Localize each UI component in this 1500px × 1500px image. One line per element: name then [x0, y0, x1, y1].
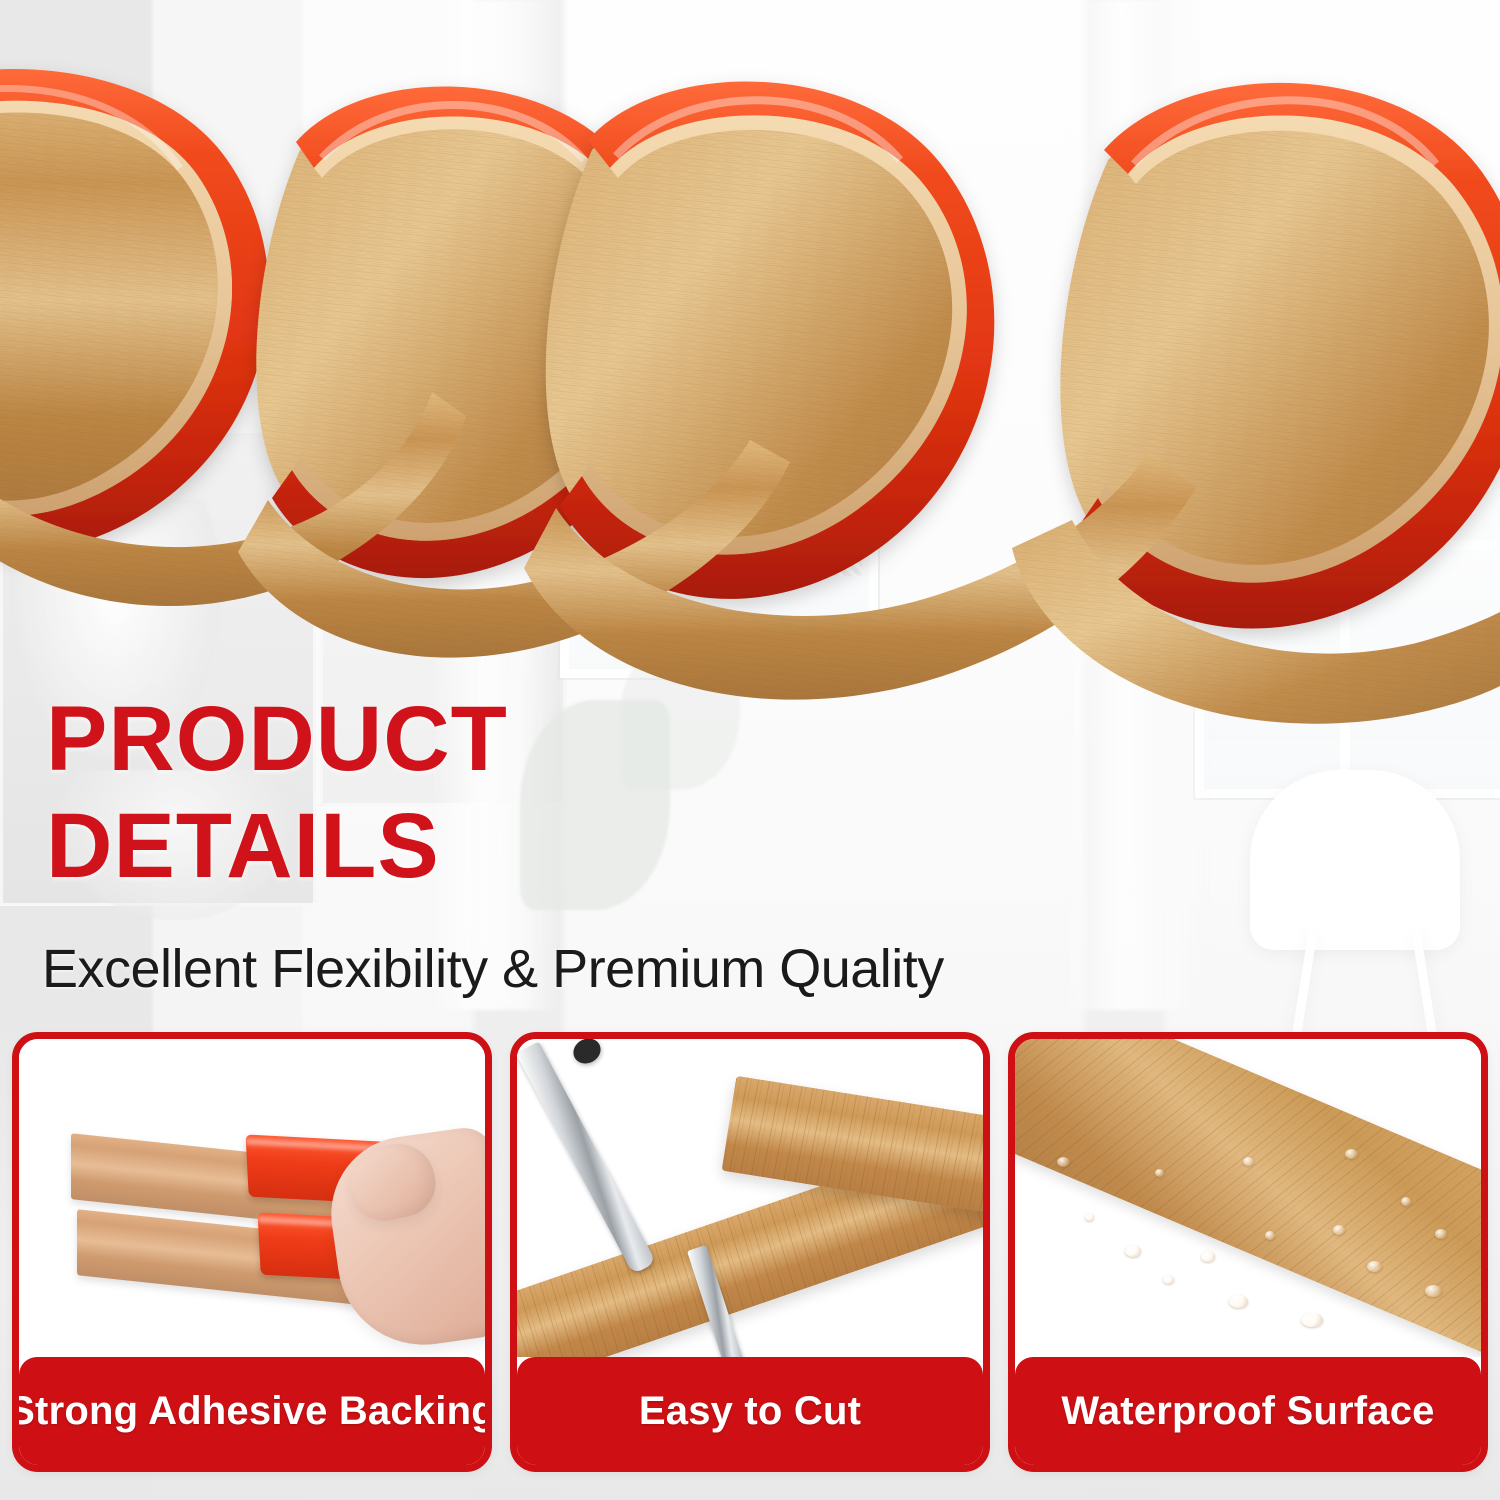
- page-title-line-2: DETAILS: [46, 793, 1146, 900]
- water-droplet: [1229, 1295, 1248, 1308]
- feature-card-adhesive[interactable]: Strong Adhesive Backing: [12, 1032, 492, 1472]
- water-droplet: [1085, 1213, 1094, 1221]
- edge-banding-coil-illustration: [0, 0, 1500, 790]
- coil-3: [546, 81, 995, 598]
- water-droplet: [1425, 1285, 1442, 1297]
- feature-caption-adhesive: Strong Adhesive Backing: [19, 1357, 485, 1465]
- feature-card-row: Strong Adhesive Backing Easy to Cut: [0, 1032, 1500, 1472]
- water-droplet: [1265, 1231, 1275, 1240]
- coil-1: [0, 69, 269, 552]
- feature-media-waterproof: [1015, 1039, 1481, 1357]
- water-droplet: [1201, 1251, 1215, 1262]
- water-droplet: [1125, 1245, 1141, 1257]
- hero-product-coils: [0, 0, 1500, 790]
- product-detail-image: PRODUCT DETAILS Excellent Flexibility & …: [0, 0, 1500, 1500]
- water-droplet: [1401, 1197, 1411, 1206]
- scissors-pivot: [569, 1039, 605, 1068]
- feature-media-cutting: [517, 1039, 983, 1357]
- feature-caption-waterproof: Waterproof Surface: [1015, 1357, 1481, 1465]
- feature-media-adhesive: [19, 1039, 485, 1357]
- scissors-blade-upper: [517, 1042, 656, 1275]
- water-droplet: [1367, 1261, 1382, 1272]
- water-droplet: [1301, 1313, 1323, 1327]
- feature-card-waterproof[interactable]: Waterproof Surface: [1008, 1032, 1488, 1472]
- water-droplet: [1163, 1275, 1174, 1284]
- water-droplet: [1057, 1157, 1070, 1167]
- water-droplet: [1435, 1229, 1447, 1239]
- page-subtitle: Excellent Flexibility & Premium Quality: [42, 936, 944, 1002]
- feature-caption-easy-to-cut: Easy to Cut: [517, 1357, 983, 1465]
- wet-wood-plank: [1015, 1039, 1481, 1357]
- water-droplet: [1243, 1157, 1254, 1166]
- water-droplet: [1345, 1149, 1358, 1159]
- background-chair: [1250, 770, 1460, 950]
- water-droplet: [1155, 1169, 1164, 1177]
- feature-card-easy-to-cut[interactable]: Easy to Cut: [510, 1032, 990, 1472]
- water-droplet: [1333, 1225, 1345, 1235]
- page-title: PRODUCT DETAILS: [46, 686, 1146, 900]
- page-title-line-1: PRODUCT: [46, 686, 1146, 793]
